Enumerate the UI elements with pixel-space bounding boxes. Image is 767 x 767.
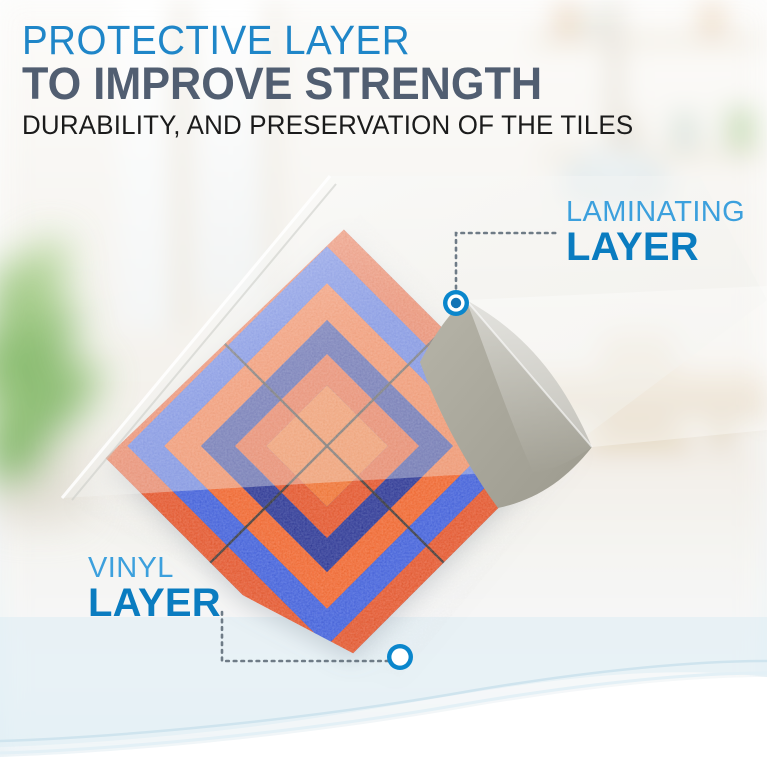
callout-laminating-thin: LAMINATING <box>566 197 745 227</box>
callout-vinyl-bold: LAYER <box>88 583 221 624</box>
callout-vinyl-layer: VINYL LAYER <box>88 553 221 624</box>
marker-vinyl[interactable] <box>387 644 413 670</box>
callout-connectors <box>0 0 767 767</box>
marker-laminating[interactable] <box>443 290 469 316</box>
connector-line-vinyl <box>222 612 388 661</box>
callout-laminating-bold: LAYER <box>566 227 745 268</box>
infographic-canvas: PROTECTIVE LAYER TO IMPROVE STRENGTH DUR… <box>0 0 767 767</box>
callout-vinyl-thin: VINYL <box>88 553 221 583</box>
connector-line-laminating <box>456 233 560 296</box>
callout-laminating-layer: LAMINATING LAYER <box>566 197 745 268</box>
